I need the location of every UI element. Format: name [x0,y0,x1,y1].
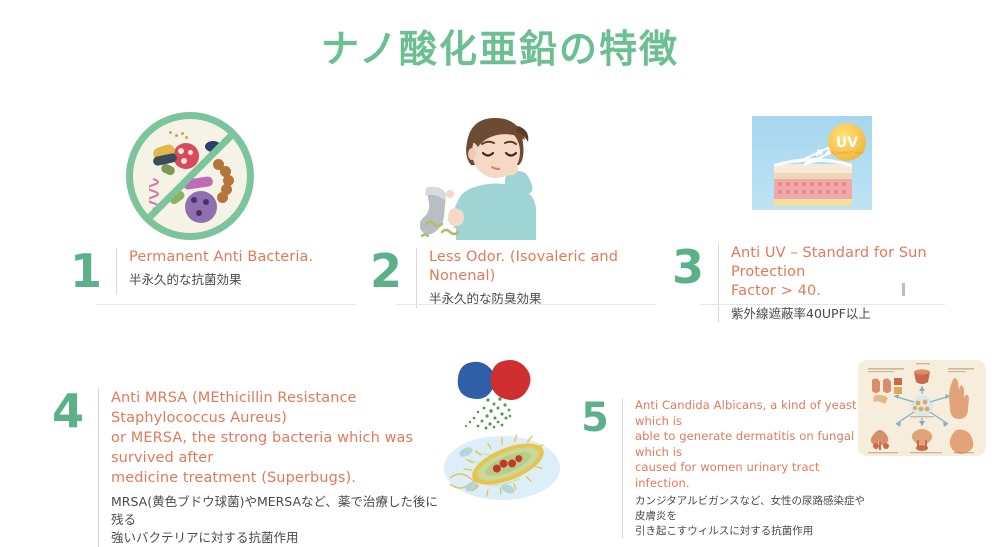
feature-number-2: 2 [366,248,406,294]
feature-text-2: Less Odor. (Isovaleric and Nonenal) 半永久的… [429,248,656,308]
microbe-purple-dot [191,197,197,203]
feature-japanese-3: 紫外線遮蔽率40UPF以上 [731,304,968,323]
feature-item-5: 5 Anti Candida Albicans, a kind of yeast… [578,398,868,539]
feature-english-5-line3: caused for women urinary tract infection… [635,460,868,491]
feature-item-3: 3 Anti UV – Standard for Sun Protection … [668,244,968,323]
feature-japanese-5-line1: カンジタアルビガンスなど、女性の尿路感染症や皮膚炎を [635,494,868,524]
no-bacteria-circle [126,112,254,240]
feature-english-4-line1: Anti MRSA (MEthicillin Resistance Staphy… [111,388,448,428]
candida-svg [858,360,986,456]
candida-card [858,360,986,456]
feature-item-2: 2 Less Odor. (Isovaleric and Nonenal) 半永… [366,248,656,308]
odor-man-svg [420,112,570,240]
feature-number-3: 3 [668,244,708,290]
microbe-red-dot [188,150,193,155]
feature-underline-1 [96,304,356,305]
feature-english-3-line1: Anti UV – Standard for Sun Protection [731,244,968,282]
feature-text-1: Permanent Anti Bacteria. 半永久的な抗菌効果 [129,248,356,289]
feature-text-5: Anti Candida Albicans, a kind of yeast w… [635,398,868,539]
feature-english-4-line3: medicine treatment (Superbugs). [111,468,448,488]
scan-artifact-mark [902,283,905,296]
microbe-red-dot [178,148,184,154]
feature-english-5-line2: able to generate dermatitis on fungal wh… [635,429,868,460]
feature-divider-2 [416,248,417,308]
svg-text:ULTRAVIOLET RAYS: ULTRAVIOLET RAYS [831,151,865,155]
feature-underline-3 [700,304,945,305]
uv-skin-svg: UV ULTRAVIOLET RAYS [752,116,872,210]
feature-number-5: 5 [578,398,612,438]
feature-english-5-line1: Anti Candida Albicans, a kind of yeast w… [635,398,868,429]
feature-underline-2 [396,304,656,305]
candida-infection-infographic [858,360,986,456]
feature-english-3-line2: Factor > 40. [731,282,968,301]
feature-english-2: Less Odor. (Isovaleric and Nonenal) [429,248,656,286]
feature-english-4-line2: or MERSA, the strong bacteria which was … [111,428,448,468]
feature-divider-5 [622,398,623,539]
microbe-purple-dot [203,199,209,205]
capsule-bacteria-illustration [430,356,580,506]
uv-badge-label: UV [836,135,858,151]
microbe-purple-dot [196,210,202,216]
microbe-purple-virus [185,191,217,223]
feature-japanese-2: 半永久的な防臭効果 [429,289,656,308]
feature-divider-4 [98,388,99,547]
feature-number-1: 1 [66,248,106,294]
feature-english-1: Permanent Anti Bacteria. [129,248,356,267]
microbe-dot-cluster [169,131,189,141]
page-title: ナノ酸化亜鉛の特徴 [0,18,1000,73]
uv-skin-diagram: UV ULTRAVIOLET RAYS [752,116,872,210]
feature-japanese-1: 半永久的な抗菌効果 [129,270,356,289]
microbe-brown-chain [217,192,228,203]
feature-text-4: Anti MRSA (MEthicillin Resistance Staphy… [111,388,448,547]
feature-divider-1 [116,248,117,294]
feature-japanese-4-line1: MRSA(黄色ブドウ球菌)やMERSAなど、薬で治療した後に残る [111,493,448,529]
slide-root: ナノ酸化亜鉛の特徴 [0,0,1000,525]
feature-number-4: 4 [48,388,88,434]
capsule-bacteria-svg [430,356,580,506]
feature-divider-3 [718,244,719,323]
feature-item-4: 4 Anti MRSA (MEthicillin Resistance Stap… [48,388,448,547]
microbe-red-dot [181,158,187,164]
no-bacteria-icon [126,112,254,240]
feature-item-1: 1 Permanent Anti Bacteria. 半永久的な抗菌効果 [66,248,356,294]
feature-text-3: Anti UV – Standard for Sun Protection Fa… [731,244,968,323]
odor-man-illustration [420,112,570,240]
feature-japanese-4-line2: 強いバクテリアに対する抗菌作用 [111,529,448,547]
feature-japanese-5-line2: 引き起こすウィルスに対する抗菌作用 [635,524,868,539]
